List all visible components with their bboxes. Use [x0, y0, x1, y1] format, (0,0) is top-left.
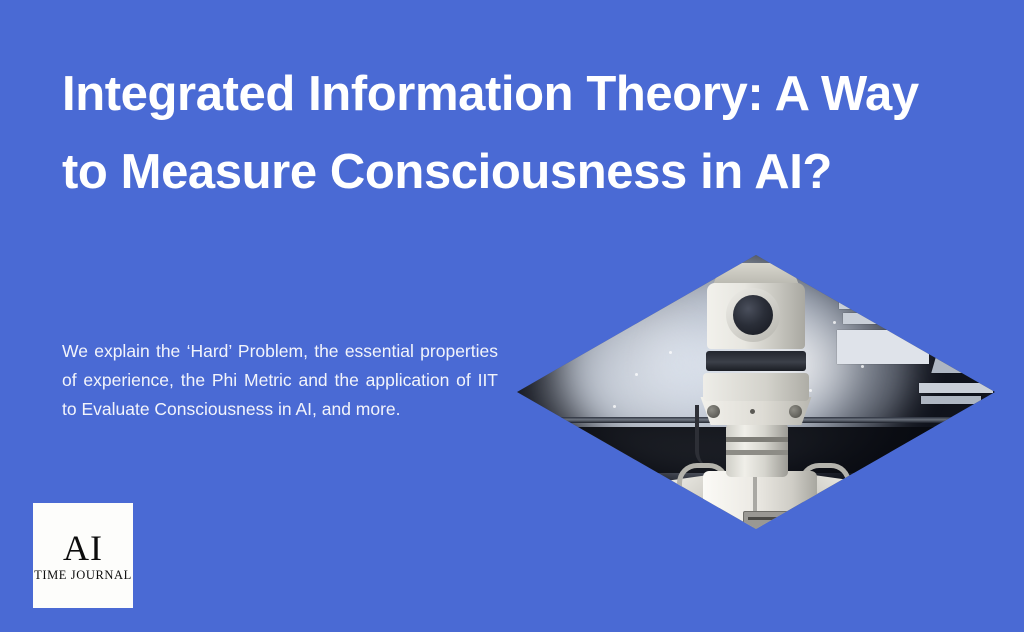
article-banner: Integrated Information Theory: A Way to …	[0, 0, 1024, 632]
dust-speck	[833, 321, 836, 324]
robot-jaw	[703, 373, 809, 401]
robot-visor	[706, 351, 806, 371]
dust-speck	[809, 389, 812, 392]
dust-speck	[613, 405, 616, 408]
equipment-panel	[843, 313, 917, 324]
equipment-panel	[919, 383, 993, 393]
robot-neck-band	[726, 437, 788, 442]
robot-bolt	[707, 405, 720, 418]
robot-head-crown	[713, 263, 799, 285]
robot-neck-band	[726, 450, 788, 455]
robot-bolt	[789, 405, 802, 418]
robot-photo-diamond	[517, 255, 995, 529]
robot-bolt	[750, 409, 755, 414]
logo-primary-text: AI	[63, 530, 103, 566]
ai-time-journal-logo[interactable]: AI TIME JOURNAL	[33, 503, 133, 608]
robot-torso-label	[743, 511, 791, 529]
dust-speck	[635, 373, 638, 376]
equipment-panel	[847, 285, 899, 294]
page-title: Integrated Information Theory: A Way to …	[62, 55, 952, 211]
dust-speck	[669, 351, 672, 354]
robot-camera-eye-icon	[733, 295, 773, 335]
dust-speck	[861, 365, 864, 368]
page-subtitle: We explain the ‘Hard’ Problem, the essen…	[62, 337, 498, 424]
equipment-panel	[837, 330, 929, 364]
logo-secondary-text: TIME JOURNAL	[34, 569, 132, 582]
equipment-panel	[921, 396, 981, 404]
robot-arm-joint-right	[826, 480, 878, 529]
equipment-panel	[931, 347, 982, 373]
robot-photo	[517, 255, 995, 529]
equipment-panel	[839, 298, 917, 309]
